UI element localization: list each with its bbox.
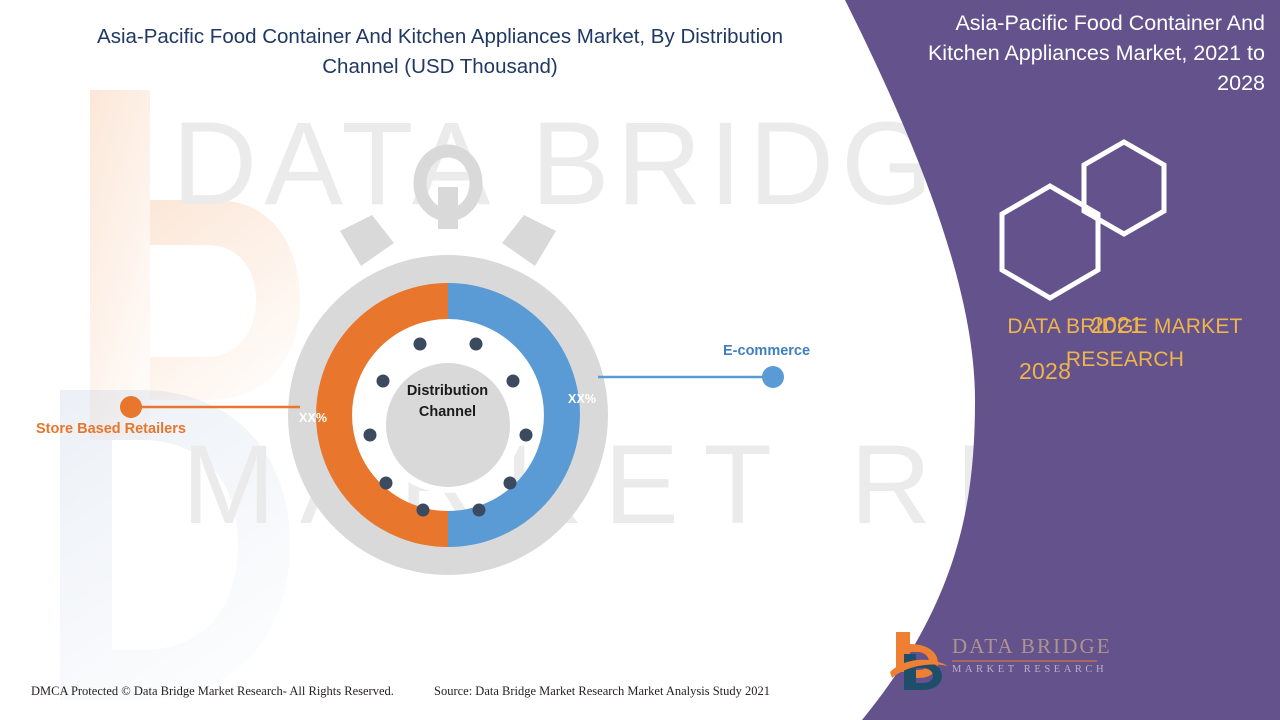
infographic-canvas: DATA BRIDGE MARKET RESEARCH Asia-Pacific… — [0, 0, 1280, 720]
logo-main-text: DATA BRIDGE — [952, 634, 1112, 659]
logo-mark-icon — [890, 630, 950, 692]
footer-copyright: DMCA Protected © Data Bridge Market Rese… — [31, 684, 394, 699]
brand-name-line2: RESEARCH — [955, 343, 1280, 376]
brand-name: DATA BRIDGE MARKET RESEARCH — [955, 310, 1280, 376]
logo-divider — [952, 660, 1097, 662]
hexagon-badge-group: 2021 2028 — [975, 140, 1190, 270]
panel-title: Asia-Pacific Food Container And Kitchen … — [905, 8, 1265, 98]
data-bridge-logo: DATA BRIDGE MARKET RESEARCH — [890, 630, 1120, 692]
logo-sub-text: MARKET RESEARCH — [952, 664, 1112, 675]
footer-source: Source: Data Bridge Market Research Mark… — [434, 684, 770, 699]
logo-wordmark: DATA BRIDGE MARKET RESEARCH — [952, 634, 1112, 675]
brand-name-line1: DATA BRIDGE MARKET — [955, 310, 1280, 343]
